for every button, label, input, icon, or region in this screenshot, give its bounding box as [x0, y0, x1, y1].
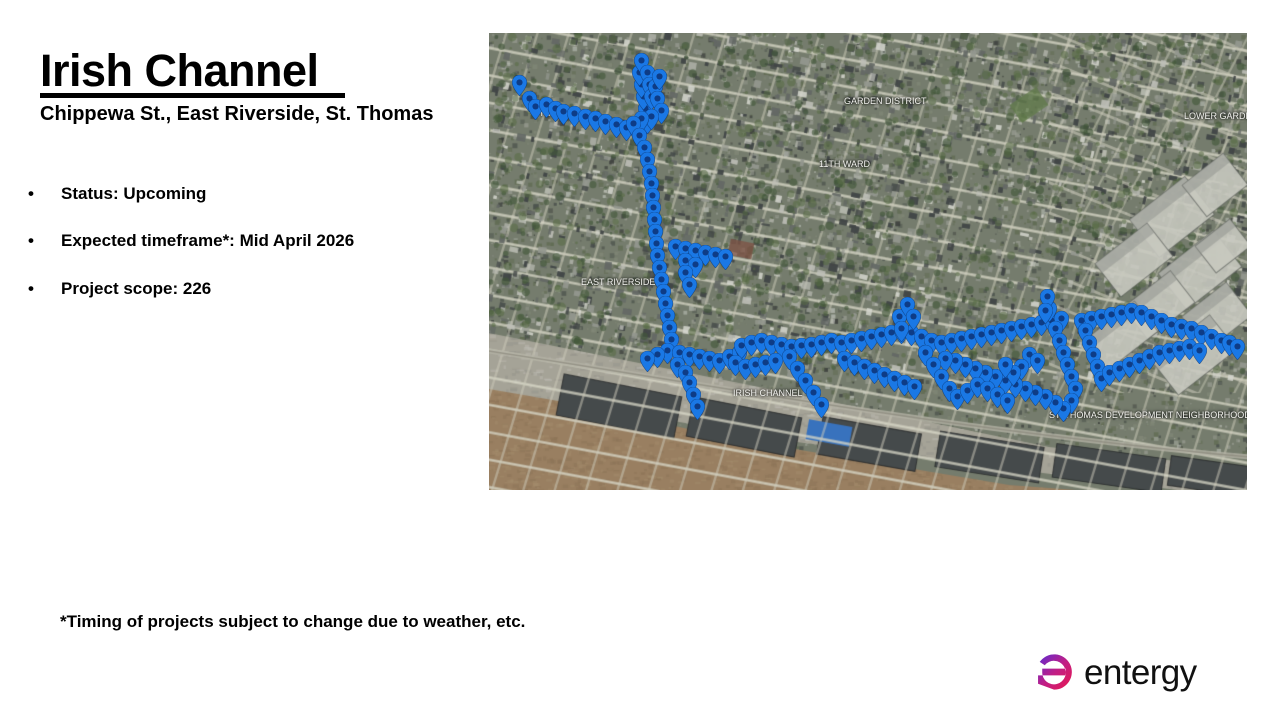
timeframe-text: Expected timeframe*: Mid April 2026: [61, 230, 354, 251]
list-item: • Expected timeframe*: Mid April 2026: [28, 230, 468, 251]
project-area-map[interactable]: TOUROGARDEN DISTRICTLOWER GARDEN11TH WAR…: [489, 33, 1247, 490]
footnote-text: *Timing of projects subject to change du…: [60, 612, 525, 632]
page-subtitle: Chippewa St., East Riverside, St. Thomas: [40, 103, 433, 126]
bullet-marker: •: [28, 230, 61, 251]
entergy-wordmark: entergy: [1084, 655, 1197, 690]
entergy-logo: entergy: [1033, 651, 1197, 693]
page-title: Irish Channel: [40, 47, 319, 94]
entergy-logo-icon: [1033, 651, 1075, 693]
list-item: • Status: Upcoming: [28, 183, 468, 204]
bullet-marker: •: [28, 278, 61, 299]
list-item: • Project scope: 226: [28, 278, 468, 299]
title-underline: [40, 93, 345, 98]
project-scope-text: Project scope: 226: [61, 278, 211, 299]
project-details-list: • Status: Upcoming • Expected timeframe*…: [28, 183, 468, 325]
status-text: Status: Upcoming: [61, 183, 206, 204]
map-satellite-imagery: [489, 33, 1247, 490]
bullet-marker: •: [28, 183, 61, 204]
